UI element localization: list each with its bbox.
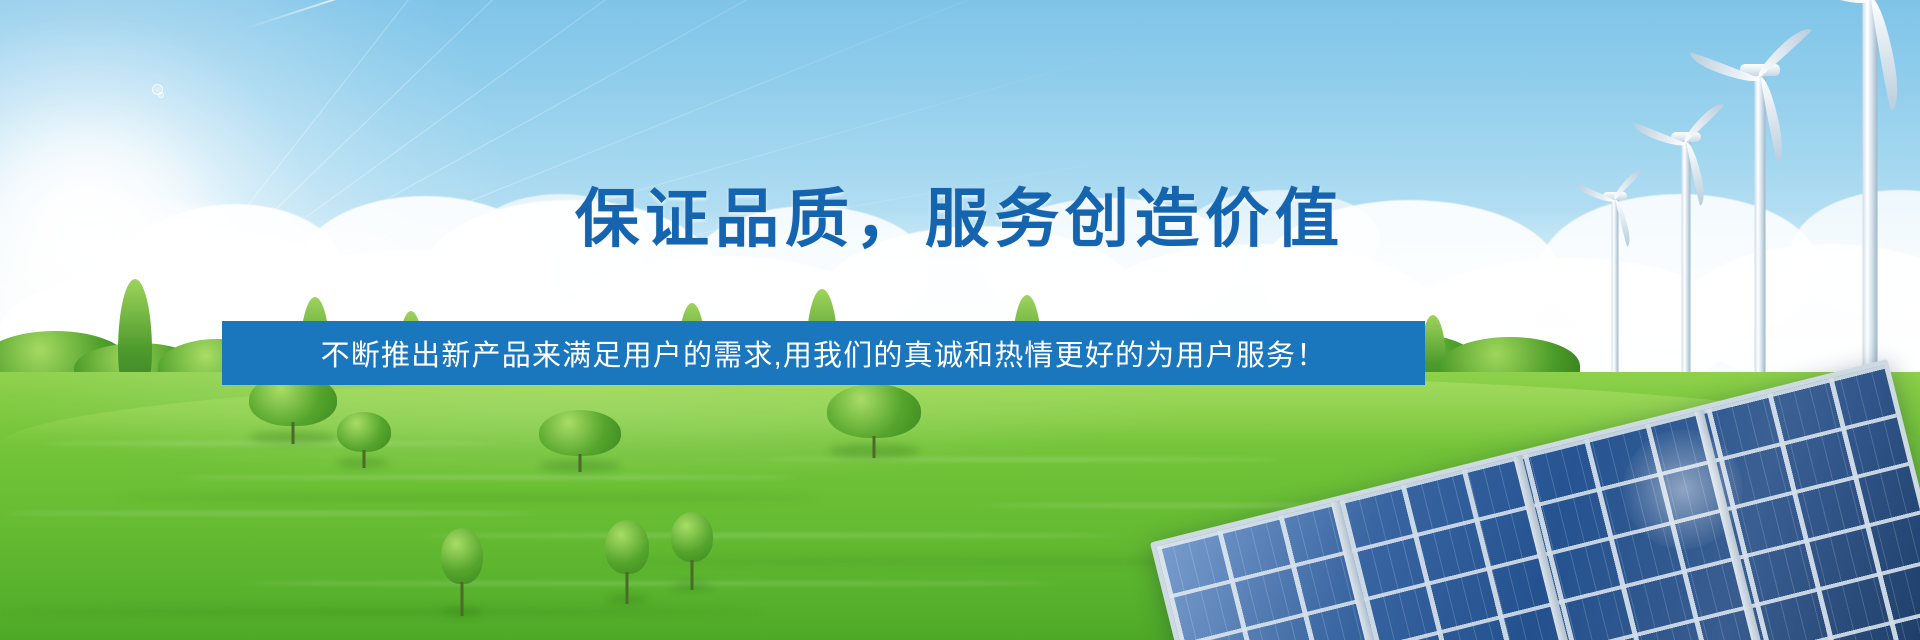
sapling	[604, 520, 650, 604]
foreground-tree	[336, 412, 392, 468]
sapling	[670, 512, 714, 590]
foreground-tree	[538, 410, 622, 472]
hero-banner: 保证品质，服务创造价值 不断推出新产品来满足用户的需求,用我们的真诚和热情更好的…	[0, 0, 1920, 640]
subtitle-bar: 不断推出新产品来满足用户的需求,用我们的真诚和热情更好的为用户服务！	[222, 321, 1425, 385]
sapling	[440, 528, 484, 616]
panel-sheen	[1156, 365, 1920, 640]
foreground-tree	[826, 384, 922, 458]
subtitle-text: 不断推出新产品来满足用户的需求,用我们的真诚和热情更好的为用户服务！	[321, 332, 1327, 374]
page-title: 保证品质，服务创造价值	[0, 168, 1920, 260]
